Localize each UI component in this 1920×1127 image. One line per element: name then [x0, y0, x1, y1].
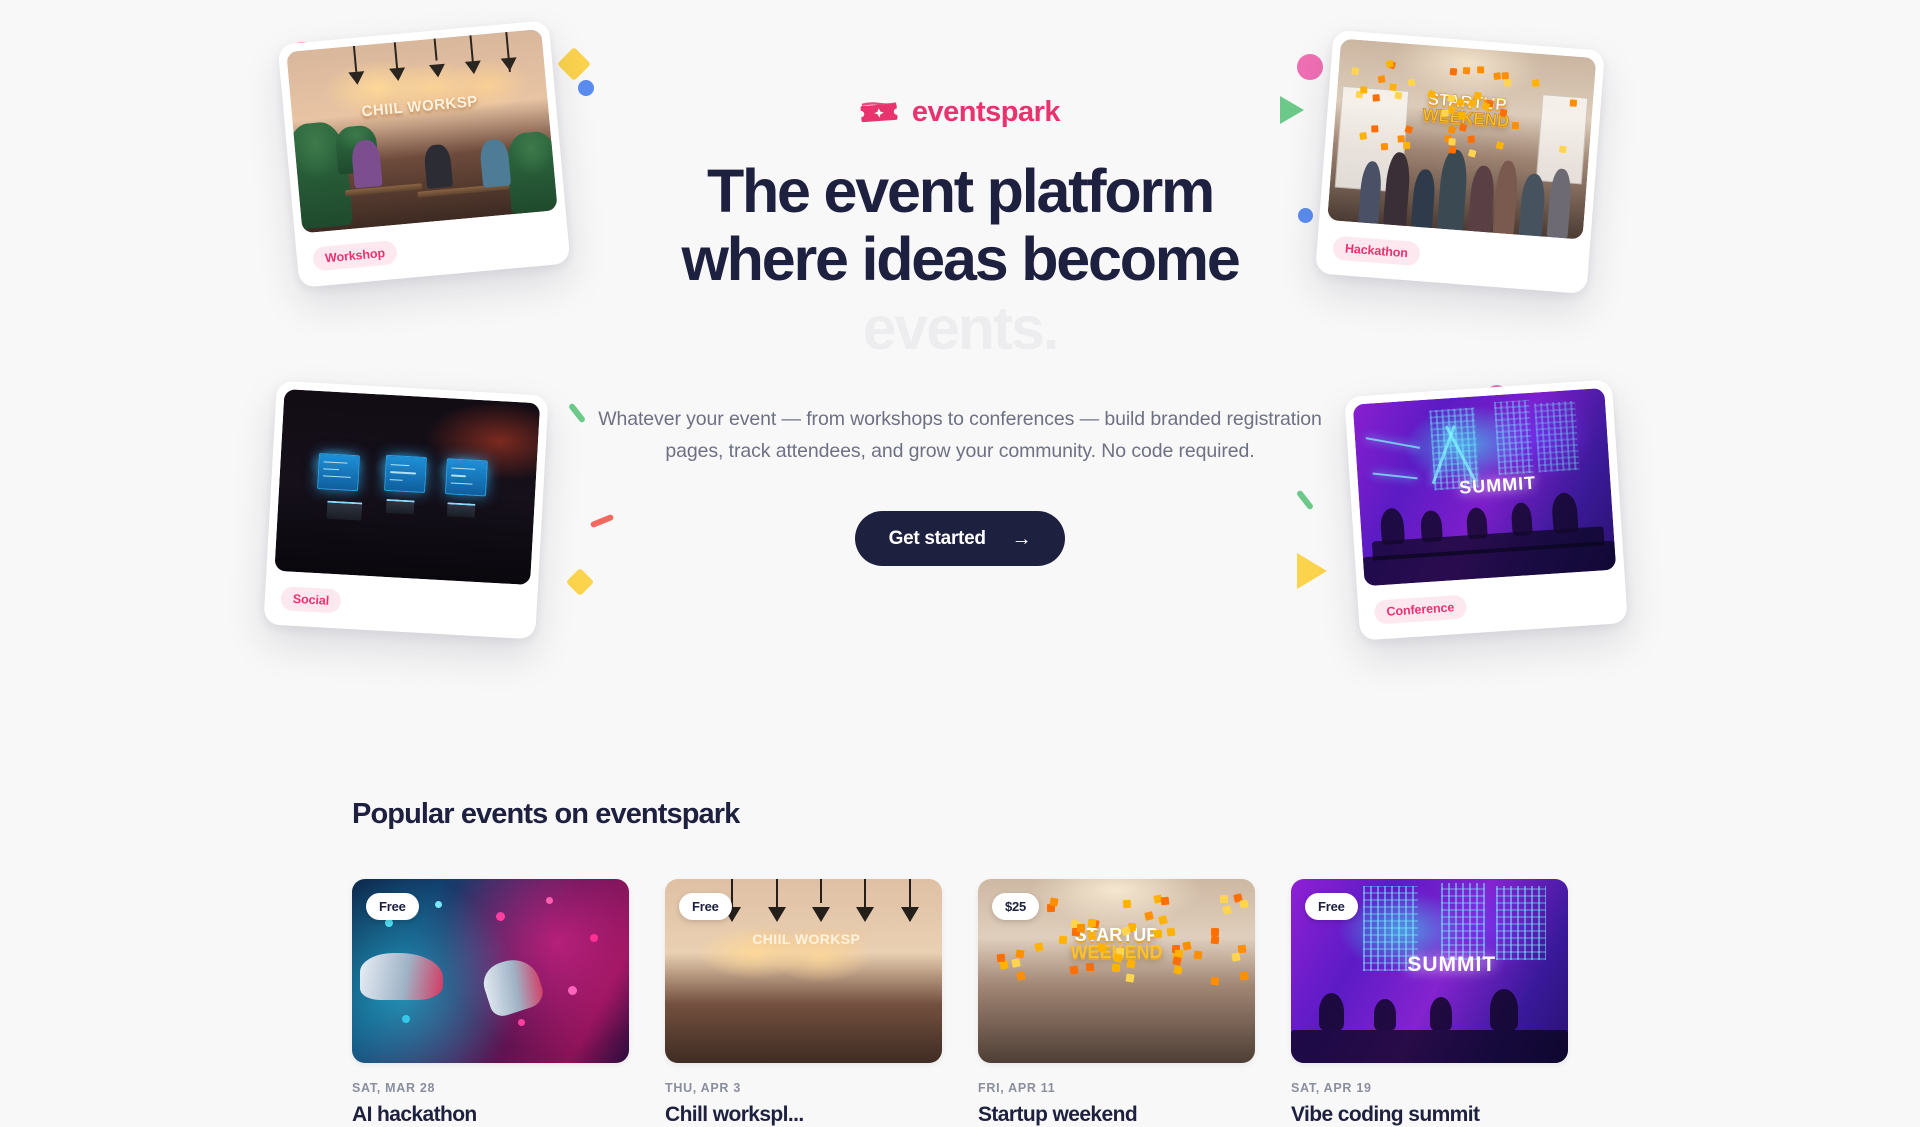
sticky-note: [1463, 67, 1470, 74]
sticky-note: [1499, 109, 1507, 117]
get-started-label: Get started: [889, 528, 986, 550]
sticky-note: [1222, 905, 1232, 915]
sticky-note: [1172, 956, 1182, 966]
sticky-note: [1404, 142, 1411, 149]
sticky-note: [1210, 936, 1219, 945]
sticky-note: [1407, 79, 1415, 87]
sticky-note: [1493, 72, 1501, 80]
sticky-note: [1011, 958, 1021, 968]
thumbnail-sign-text: CHIIL WORKSP: [726, 931, 887, 947]
sticky-note: [1232, 952, 1241, 961]
event-card-date: SAT, MAR 28: [352, 1081, 629, 1095]
hero-card-workshop-photo: CHIIL WORKSP: [286, 29, 557, 233]
sticky-note: [1016, 971, 1026, 981]
hero-card-workshop-tag: Workshop: [312, 240, 398, 272]
hero-card-conference[interactable]: SUMMIT Conference: [1344, 379, 1628, 640]
sticky-note: [1448, 146, 1455, 153]
sticky-note: [1448, 138, 1455, 145]
sticky-note: [1173, 965, 1182, 974]
event-card-thumbnail: Free CHIIL WORKSP: [665, 879, 942, 1063]
sticky-note: [1389, 83, 1397, 91]
ticket-sparkle-icon: [860, 99, 898, 126]
sticky-note: [1123, 899, 1132, 908]
sticky-note: [1069, 965, 1078, 974]
sticky-note: [1220, 894, 1228, 902]
hero-card-workshop[interactable]: CHIIL WORKSP Workshop: [278, 20, 571, 288]
sticky-note: [1405, 125, 1414, 134]
hero-card-social-photo: [274, 389, 540, 585]
sticky-note: [1459, 111, 1466, 118]
popular-events-section: Popular events on eventspark Free: [0, 760, 1920, 1127]
hero-card-workshop-sign: CHIIL WORKSP: [337, 91, 502, 123]
hero-card-hackathon-tag: Hackathon: [1332, 236, 1421, 267]
hero-card-hackathon-photo: STARTUP WEEKEND: [1327, 39, 1596, 240]
event-card[interactable]: Free CHIIL WORKSP THU, APR 3 Chill works…: [665, 879, 942, 1127]
sticky-note: [1112, 964, 1121, 973]
sticky-note: [1077, 924, 1085, 932]
sticky-note: [1097, 943, 1106, 952]
sticky-note: [1159, 915, 1169, 925]
thumbnail-sign-text: SUMMIT: [1407, 953, 1496, 977]
headline-line-3: events.: [863, 294, 1058, 362]
popular-events-grid: Free SAT, MAR 28 AI hackathon: [352, 879, 1568, 1127]
event-card-name: Chill workspl...: [665, 1103, 942, 1127]
brand-logo[interactable]: eventspark: [580, 96, 1340, 129]
hero-card-social-tag: Social: [280, 586, 341, 613]
decor-circle-blue-top-left: [578, 80, 594, 96]
decor-diamond-yellow-bottom-left: [566, 568, 594, 596]
hero-card-social[interactable]: Social: [263, 381, 548, 640]
hero-card-conference-photo: SUMMIT: [1353, 388, 1617, 586]
sticky-note: [1377, 75, 1385, 83]
sticky-note: [1442, 109, 1449, 116]
event-card-thumbnail: Free SUMMIT: [1291, 879, 1568, 1063]
event-card-thumbnail: $25 STARTUP WEEKEND: [978, 879, 1255, 1063]
price-badge: Free: [1305, 893, 1358, 920]
hero-card-conference-tag: Conference: [1374, 595, 1467, 625]
page-title: The event platform where ideas become ev…: [580, 157, 1340, 362]
sticky-note: [1193, 951, 1202, 960]
event-card[interactable]: Free SAT, MAR 28 AI hackathon: [352, 879, 629, 1127]
sticky-note: [1167, 928, 1176, 937]
get-started-button[interactable]: Get started →: [855, 511, 1066, 566]
sticky-note: [1126, 960, 1135, 969]
sticky-note: [1359, 132, 1367, 140]
hero-subheadline: Whatever your event — from workshops to …: [580, 404, 1340, 467]
price-badge: $25: [992, 893, 1039, 920]
arrow-right-icon: →: [1012, 529, 1032, 549]
sticky-note: [1448, 125, 1457, 134]
decor-circle-pink-top-right: [1297, 54, 1323, 80]
sticky-note: [1450, 68, 1458, 76]
event-card-thumbnail: Free: [352, 879, 629, 1063]
sticky-note: [1559, 145, 1567, 153]
sticky-note: [1504, 80, 1511, 87]
sticky-note: [1086, 963, 1094, 971]
event-card[interactable]: $25 STARTUP WEEKEND FRI, APR 11 Startup …: [978, 879, 1255, 1127]
sticky-note: [1381, 143, 1388, 150]
hero-cta-wrap: Get started →: [580, 511, 1340, 566]
event-card-name: AI hackathon: [352, 1103, 629, 1127]
sticky-note: [1496, 141, 1505, 150]
sticky-note: [1144, 911, 1154, 921]
sticky-note: [1468, 136, 1476, 144]
sticky-note: [1087, 919, 1096, 928]
sticky-note: [1016, 950, 1025, 959]
sticky-note: [1034, 942, 1044, 952]
sticky-note: [1113, 953, 1123, 963]
event-card-name: Vibe coding summit: [1291, 1103, 1568, 1127]
sticky-note: [1468, 149, 1477, 158]
sticky-note: [1371, 125, 1378, 132]
brand-wordmark: eventspark: [912, 96, 1060, 129]
sticky-note: [1210, 977, 1219, 986]
decor-diamond-yellow-top-left: [557, 47, 591, 81]
headline-line-1: The event platform: [707, 157, 1213, 225]
event-card-date: THU, APR 3: [665, 1081, 942, 1095]
sticky-note: [1239, 971, 1248, 980]
sticky-note: [1239, 899, 1248, 908]
sticky-note: [1459, 123, 1468, 132]
sticky-note: [1154, 929, 1162, 937]
sticky-note: [1352, 67, 1360, 75]
hero-content: eventspark The event platform where idea…: [580, 96, 1340, 566]
sticky-note: [1125, 974, 1134, 983]
sticky-note: [1211, 928, 1219, 936]
price-badge: Free: [679, 893, 732, 920]
headline-line-2: where ideas become: [681, 225, 1238, 293]
sticky-note: [996, 954, 1004, 962]
sticky-note: [1372, 94, 1380, 102]
sticky-note: [1532, 79, 1540, 87]
hero-card-conference-sign: SUMMIT: [1459, 473, 1537, 499]
popular-events-title: Popular events on eventspark: [352, 760, 1568, 831]
sticky-note: [1569, 99, 1577, 107]
sticky-note: [1049, 897, 1058, 906]
event-card-name: Startup weekend: [978, 1103, 1255, 1127]
sticky-note: [1360, 86, 1367, 93]
event-card-date: FRI, APR 11: [978, 1081, 1255, 1095]
sticky-note: [1511, 122, 1518, 129]
sticky-note: [1182, 942, 1191, 951]
sticky-note: [1161, 897, 1170, 906]
price-badge: Free: [366, 893, 419, 920]
event-card-date: SAT, APR 19: [1291, 1081, 1568, 1095]
event-card[interactable]: Free SUMMIT SAT, APR 19 Vibe coding summ…: [1291, 879, 1568, 1127]
sticky-note: [1477, 66, 1484, 73]
hero-card-hackathon[interactable]: STARTUP WEEKEND Hackathon: [1315, 30, 1605, 294]
sticky-note: [1059, 936, 1068, 945]
hero-section: CHIIL WORKSP Workshop STARTUP WEEKEND: [0, 0, 1920, 740]
